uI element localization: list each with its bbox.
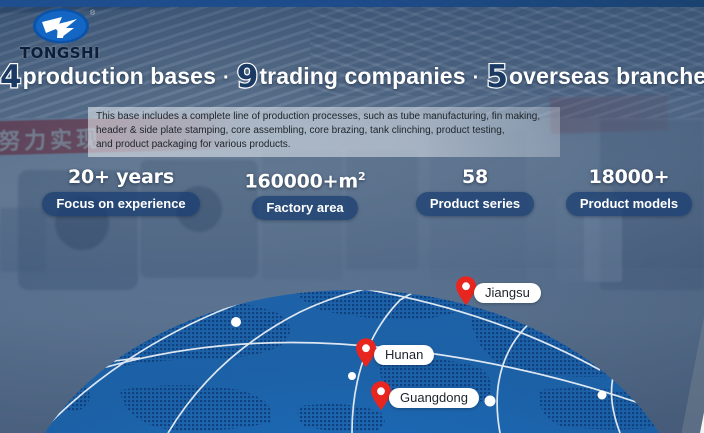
description-line-3: and product packaging for various produc… [96, 138, 552, 152]
headline-text-3: overseas branches [509, 63, 704, 89]
brand-name: TONGSHI [14, 44, 106, 62]
stat-value: 18000+ [558, 166, 700, 188]
map-marker-label: Jiangsu [474, 283, 541, 303]
stat-item-product-models: 18000+ Product models [558, 166, 700, 216]
headline-text-2: trading companies [259, 63, 465, 89]
stat-value: 58 [400, 166, 550, 188]
headline-separator-1: · [216, 67, 237, 90]
stat-item-experience: 20+ years Focus on experience [28, 166, 214, 216]
stat-item-product-series: 58 Product series [400, 166, 550, 216]
registered-mark: ® [90, 10, 95, 17]
stat-label-pill[interactable]: Factory area [252, 196, 357, 220]
stat-unit: 2 [358, 170, 365, 183]
globe-svg [0, 240, 704, 433]
stat-value: 160000+m2 [218, 166, 392, 192]
stats-row: 20+ years Focus on experience 160000+m2 … [0, 166, 704, 222]
stat-item-factory-area: 160000+m2 Factory area [218, 166, 392, 220]
headline-text-1: production bases [23, 63, 216, 89]
headline-number-1: 4 [0, 62, 22, 93]
description-line-2: header & side plate stamping, core assem… [96, 124, 552, 138]
promo-banner: 努力实现 ® TONGSHI 4production ba [0, 0, 704, 433]
headline-separator-2: · [466, 67, 487, 90]
stat-label-pill[interactable]: Focus on experience [42, 192, 199, 216]
map-marker-label: Hunan [374, 345, 434, 365]
stat-value: 20+ years [28, 166, 214, 188]
description-panel: This base includes a complete line of pr… [88, 107, 560, 157]
description-line-1: This base includes a complete line of pr… [96, 110, 552, 124]
headline: 4production bases·9trading companies·5ov… [0, 62, 704, 93]
brand-logo[interactable]: ® TONGSHI [14, 8, 106, 60]
top-blue-strip [0, 0, 704, 7]
headline-number-3: 5 [486, 62, 508, 93]
tongshi-logo-icon [32, 8, 90, 44]
stat-label-pill[interactable]: Product models [566, 192, 692, 216]
stat-label-pill[interactable]: Product series [416, 192, 534, 216]
headline-number-2: 9 [237, 62, 259, 93]
map-marker-label: Guangdong [389, 388, 479, 408]
world-map-globe [0, 240, 704, 433]
